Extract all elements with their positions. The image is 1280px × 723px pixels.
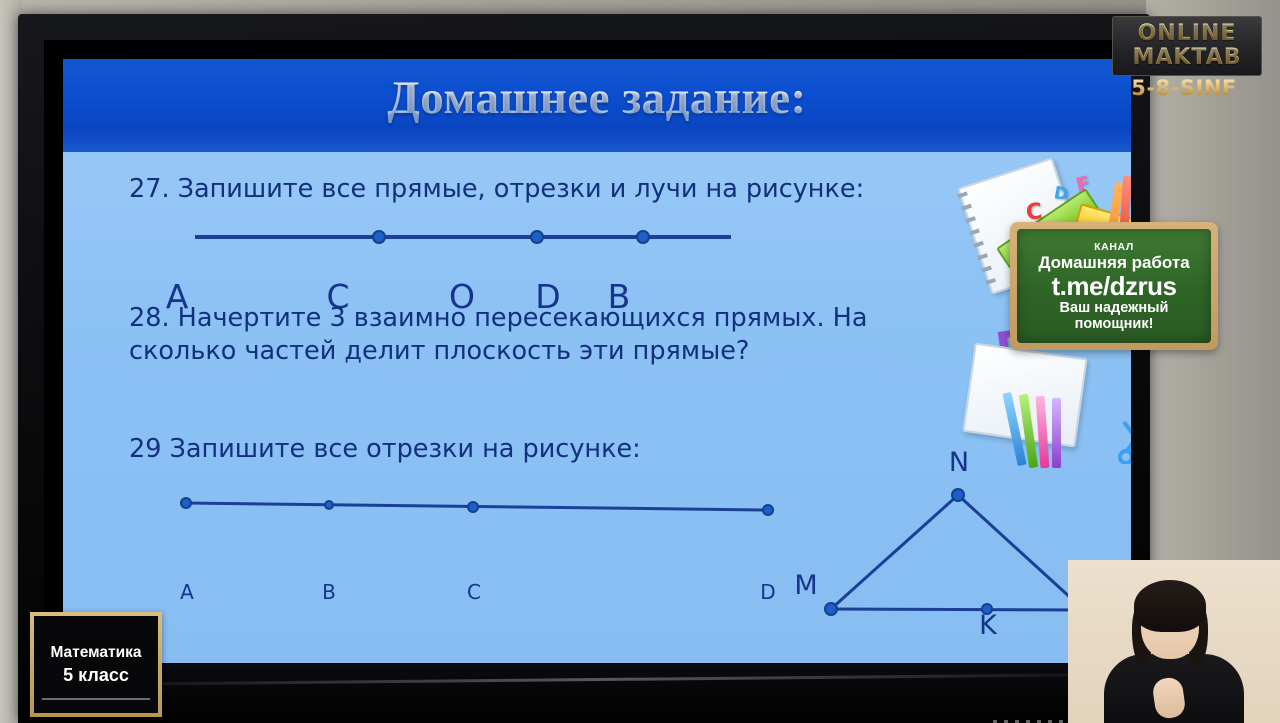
ad-channel-name: Домашняя работа [1038, 253, 1189, 272]
subject-plate-divider [42, 698, 150, 700]
figure-29-label-a: A [180, 580, 194, 604]
subject-plate: Математика 5 класс [30, 612, 162, 717]
question-27-text: 27. Запишите все прямые, отрезки и лучи … [129, 173, 1029, 206]
ad-tagline-line-1: Ваш надежный [1060, 300, 1169, 316]
tv-screen: Домашнее задание: 27. Запишите все прямы… [63, 59, 1131, 663]
subject-name: Математика [50, 644, 141, 662]
ad-tagline-line-2: помощник! [1075, 316, 1154, 332]
logo-line-1: ONLINE [1138, 22, 1237, 46]
slide-body: 27. Запишите все прямые, отрезки и лучи … [63, 152, 1131, 663]
figure-triangle-label-k: K [979, 610, 997, 641]
ad-kanal-label: КАНАЛ [1094, 241, 1134, 253]
subject-grade: 5 класс [63, 665, 129, 686]
figure-29-label-c: C [467, 580, 481, 604]
question-28-text: 28. Начертите 3 взаимно пересекающихся п… [129, 302, 1009, 368]
ad-telegram-link[interactable]: t.me/dzrus [1051, 272, 1176, 300]
figure-29-segment [178, 487, 798, 537]
figure-29-label-b: B [322, 580, 336, 604]
logo-line-2: MAKTAB [1132, 46, 1241, 70]
tv-display: Домашнее задание: 27. Запишите все прямы… [18, 14, 1150, 723]
presentation-slide: Домашнее задание: 27. Запишите все прямы… [63, 59, 1131, 663]
question-29-text: 29 Запишите все отрезки на рисунке: [129, 433, 889, 466]
figure-27-line [183, 207, 743, 267]
figure-triangle-label-n: N [949, 447, 969, 478]
slide-title: Домашнее задание: [63, 71, 1131, 125]
presenter-hair [1134, 580, 1206, 632]
figure-triangle-label-m: M [794, 570, 817, 601]
screenshot-stage: Домашнее задание: 27. Запишите все прямы… [0, 0, 1280, 723]
logo-box: ONLINE MAKTAB [1112, 16, 1262, 76]
logo-subtitle: 5-8-SINF [1104, 76, 1264, 100]
online-maktab-logo: ONLINE MAKTAB 5-8-SINF [1104, 16, 1264, 108]
tv-chin [36, 664, 1168, 723]
presenter-video-overlay [1068, 560, 1280, 723]
channel-ad-board[interactable]: КАНАЛ Домашняя работа t.me/dzrus Ваш над… [1010, 222, 1218, 350]
chalkboard-surface: КАНАЛ Домашняя работа t.me/dzrus Ваш над… [1017, 229, 1211, 343]
figure-29-label-d: D [760, 580, 775, 604]
